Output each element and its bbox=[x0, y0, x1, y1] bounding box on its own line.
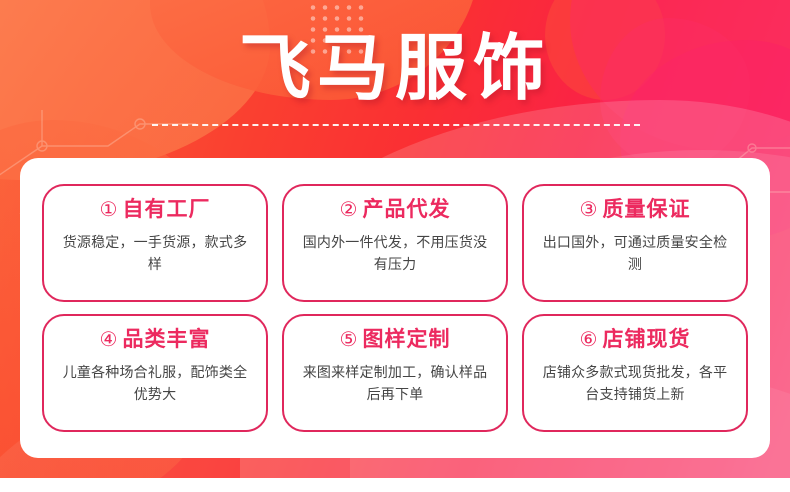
feature-card-5-body: 来图来样定制加工，确认样品后再下单 bbox=[298, 361, 492, 405]
title-dashed-divider bbox=[152, 124, 640, 126]
feature-card-3-number: ③ bbox=[580, 199, 599, 221]
feature-card-2-body: 国内外一件代发，不用压货没有压力 bbox=[298, 231, 492, 275]
feature-card-4-title: ④品类丰富 bbox=[100, 326, 211, 354]
feature-card-3-body: 出口国外，可通过质量安全检测 bbox=[538, 231, 732, 275]
feature-card-6[interactable]: ⑥店铺现货 店铺众多款式现货批发，各平台支持铺货上新 bbox=[522, 314, 748, 432]
feature-card-1-body: 货源稳定，一手货源，款式多样 bbox=[58, 231, 252, 275]
feature-card-6-number: ⑥ bbox=[580, 329, 599, 351]
feature-card-1[interactable]: ①自有工厂 货源稳定，一手货源，款式多样 bbox=[42, 184, 268, 302]
features-panel: ①自有工厂 货源稳定，一手货源，款式多样 ②产品代发 国内外一件代发，不用压货没… bbox=[20, 158, 770, 458]
banner-title: 飞马服饰 bbox=[0, 24, 790, 112]
feature-card-5-number: ⑤ bbox=[340, 329, 359, 351]
feature-card-3-heading: 质量保证 bbox=[602, 198, 690, 221]
promo-banner: 飞马服饰 ①自有工厂 货源稳定，一手货源，款式多样 ②产品代发 国内外一件代发，… bbox=[0, 0, 790, 478]
features-row-bottom: ④品类丰富 儿童各种场合礼服，配饰类全优势大 ⑤图样定制 来图来样定制加工，确认… bbox=[42, 314, 748, 432]
feature-card-1-heading: 自有工厂 bbox=[122, 198, 210, 221]
feature-card-2-heading: 产品代发 bbox=[362, 198, 450, 221]
feature-card-4[interactable]: ④品类丰富 儿童各种场合礼服，配饰类全优势大 bbox=[42, 314, 268, 432]
feature-card-5-title: ⑤图样定制 bbox=[340, 326, 451, 354]
feature-card-3-title: ③质量保证 bbox=[580, 196, 691, 224]
feature-card-1-number: ① bbox=[100, 199, 119, 221]
feature-card-5[interactable]: ⑤图样定制 来图来样定制加工，确认样品后再下单 bbox=[282, 314, 508, 432]
feature-card-6-heading: 店铺现货 bbox=[602, 328, 690, 351]
feature-card-5-heading: 图样定制 bbox=[362, 328, 450, 351]
feature-card-6-title: ⑥店铺现货 bbox=[580, 326, 691, 354]
feature-card-4-heading: 品类丰富 bbox=[122, 328, 210, 351]
feature-card-3[interactable]: ③质量保证 出口国外，可通过质量安全检测 bbox=[522, 184, 748, 302]
feature-card-4-body: 儿童各种场合礼服，配饰类全优势大 bbox=[58, 361, 252, 405]
feature-card-2[interactable]: ②产品代发 国内外一件代发，不用压货没有压力 bbox=[282, 184, 508, 302]
feature-card-4-number: ④ bbox=[100, 329, 119, 351]
feature-card-2-title: ②产品代发 bbox=[340, 196, 451, 224]
feature-card-1-title: ①自有工厂 bbox=[100, 196, 211, 224]
feature-card-2-number: ② bbox=[340, 199, 359, 221]
feature-card-6-body: 店铺众多款式现货批发，各平台支持铺货上新 bbox=[538, 361, 732, 405]
features-row-top: ①自有工厂 货源稳定，一手货源，款式多样 ②产品代发 国内外一件代发，不用压货没… bbox=[42, 184, 748, 302]
